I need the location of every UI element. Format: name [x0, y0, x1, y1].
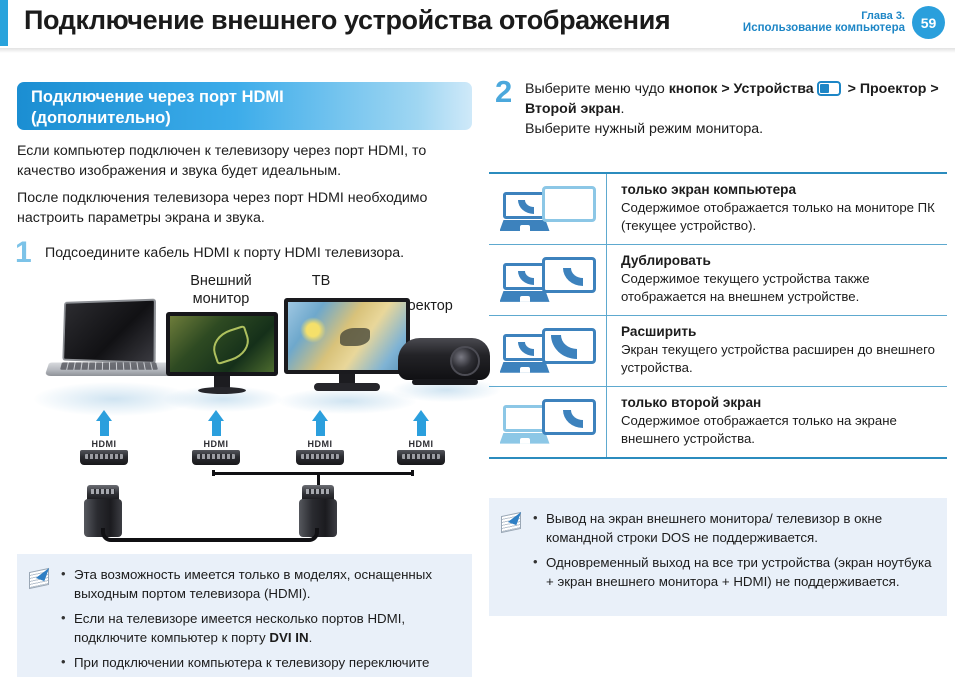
step-1-text: Подсоедините кабель HDMI к порту HDMI те…: [45, 239, 404, 264]
arrow-up-icon-monitor: [208, 410, 225, 436]
note-left-item-1: Эта возможность имеется только в моделях…: [61, 566, 458, 603]
table-row[interactable]: только второй экран Содержимое отображае…: [489, 387, 947, 457]
note-text-after: .: [309, 630, 313, 645]
table-row[interactable]: Расширить Экран текущего устройства расш…: [489, 316, 947, 387]
mode-description: Содержимое отображается только на экране…: [621, 412, 939, 448]
projector-foot: [412, 379, 478, 385]
note-left-item-3: При подключении компьютера к телевизору …: [61, 654, 458, 677]
hdmi-socket-graphic: [397, 450, 445, 465]
monitor-wallpaper: [208, 325, 253, 365]
step-2-seg-2: >: [844, 81, 860, 97]
mode-description: Содержимое отображается только на монито…: [621, 199, 939, 235]
chapter-info: Глава 3. Использование компьютера: [743, 10, 905, 35]
table-row[interactable]: Дублировать Содержимое текущего устройст…: [489, 245, 947, 316]
header-accent-bar: [0, 0, 8, 46]
note-left-list: Эта возможность имеется только в моделях…: [61, 566, 458, 677]
mode-icon-cell: [489, 174, 607, 244]
monitor-glyph: [542, 186, 596, 222]
step-2-seg-1: Выберите меню чудо: [525, 81, 669, 97]
hdmi-socket-graphic: [192, 450, 240, 465]
tv-wallpaper-fish: [340, 328, 370, 346]
laptop-screen: [62, 299, 156, 364]
monitor-glyph: [542, 257, 596, 293]
note-right-item-1: Вывод на экран внешнего монитора/ телеви…: [533, 510, 933, 547]
step-2-text: Выберите меню чудо кнопок > Устройства >…: [525, 78, 950, 140]
note-right-list: Вывод на экран внешнего монитора/ телеви…: [533, 510, 933, 591]
right-column: 2 Выберите меню чудо кнопок > Устройства…: [483, 56, 955, 677]
note-text: Одновременный выход на все три устройств…: [546, 555, 932, 589]
diagram-label-tv: ТВ: [291, 273, 351, 291]
monitor-foot: [198, 387, 246, 394]
hdmi-socket-graphic: [80, 450, 128, 465]
header-chapter-group: Глава 3. Использование компьютера 59: [743, 6, 945, 39]
display-mode-table: только экран компьютера Содержимое отобр…: [489, 172, 947, 459]
section-title-line-1: Подключение через порт HDMI: [31, 87, 472, 108]
mode-description: Содержимое текущего устройства также ото…: [621, 270, 939, 306]
note-text: При подключении компьютера к телевизору …: [74, 655, 429, 677]
note-left-item-2: Если на телевизоре имеется несколько пор…: [61, 610, 458, 647]
mode-title: Расширить: [621, 324, 939, 339]
hdmi-port-label: HDMI: [190, 440, 242, 449]
note-text: Вывод на экран внешнего монитора/ телеви…: [546, 511, 882, 545]
step-1: 1 Подсоедините кабель HDMI к порту HDMI …: [15, 239, 475, 267]
tv-illustration: [284, 298, 410, 398]
devices-icon: [817, 81, 841, 96]
step-2-number: 2: [495, 78, 525, 107]
note-box-right: Вывод на экран внешнего монитора/ телеви…: [489, 498, 947, 616]
mode-text-cell: только экран компьютера Содержимое отобр…: [607, 174, 947, 244]
step-2-seg-3: .: [621, 101, 625, 117]
section-title-line-2: (дополнительно): [31, 108, 472, 129]
note-right-item-2: Одновременный выход на все три устройств…: [533, 554, 933, 591]
page-number-badge: 59: [912, 6, 945, 39]
note-pen-icon: [501, 510, 527, 534]
display-mode-pc-screen-only-icon: [500, 186, 596, 232]
mode-text-cell: только второй экран Содержимое отображае…: [607, 387, 947, 457]
left-column: Подключение через порт HDMI (дополнитель…: [0, 56, 480, 677]
hdmi-port-laptop: HDMI: [78, 440, 130, 470]
mode-text-cell: Дублировать Содержимое текущего устройст…: [607, 245, 947, 315]
display-mode-duplicate-icon: [500, 257, 596, 303]
mode-title: Дублировать: [621, 253, 939, 268]
monitor-glyph: [542, 328, 596, 364]
hdmi-port-monitor: HDMI: [190, 440, 242, 470]
note-pen-icon: [29, 566, 55, 590]
mode-icon-cell: [489, 387, 607, 457]
note-text: Если на телевизоре имеется несколько пор…: [74, 611, 405, 645]
mode-title: только экран компьютера: [621, 182, 939, 197]
cable-bus-left-tick: [212, 470, 215, 476]
table-row[interactable]: только экран компьютера Содержимое отобр…: [489, 174, 947, 245]
display-mode-second-screen-only-icon: [500, 399, 596, 445]
hdmi-socket-graphic: [296, 450, 344, 465]
tv-foot: [314, 383, 380, 391]
arrow-up-icon-laptop: [96, 410, 113, 436]
mode-icon-cell: [489, 316, 607, 386]
hdmi-port-projector: HDMI: [395, 440, 447, 470]
laptop-keyboard: [60, 362, 158, 369]
chapter-number: Глава 3.: [743, 10, 905, 22]
mode-text-cell: Расширить Экран текущего устройства расш…: [607, 316, 947, 386]
mode-title: только второй экран: [621, 395, 939, 410]
header-divider: [0, 48, 955, 53]
monitor-glyph: [542, 399, 596, 435]
mode-icon-cell: [489, 245, 607, 315]
page-header: Подключение внешнего устройства отображе…: [0, 0, 955, 52]
step-2: 2 Выберите меню чудо кнопок > Устройства…: [495, 78, 955, 140]
note-text: Эта возможность имеется только в моделях…: [74, 567, 432, 601]
hdmi-port-label: HDMI: [78, 440, 130, 449]
mode-description: Экран текущего устройства расширен до вн…: [621, 341, 939, 377]
cable-bus-right-tick: [411, 470, 414, 476]
hdmi-port-label: HDMI: [395, 440, 447, 449]
arrow-up-icon-tv: [312, 410, 329, 436]
projector-lens: [450, 346, 480, 376]
monitor-screen: [166, 312, 278, 376]
page-title: Подключение внешнего устройства отображе…: [24, 5, 670, 36]
step-2-bold-1: кнопок > Устройства: [669, 81, 814, 97]
arrow-up-icon-projector: [413, 410, 430, 436]
tv-wallpaper-flower: [300, 317, 326, 343]
intro-paragraph-1: Если компьютер подключен к телевизору че…: [17, 142, 469, 181]
section-title-bar: Подключение через порт HDMI (дополнитель…: [17, 82, 472, 130]
tv-screen: [284, 298, 410, 374]
display-mode-extend-icon: [500, 328, 596, 374]
hdmi-port-label: HDMI: [294, 440, 346, 449]
step-1-number: 1: [15, 239, 45, 267]
manual-page: Подключение внешнего устройства отображе…: [0, 0, 955, 677]
diagram-label-external-monitor: Внешний монитор: [166, 273, 276, 308]
hdmi-port-tv: HDMI: [294, 440, 346, 470]
step-2-line-3: Выберите нужный режим монитора.: [525, 120, 950, 140]
note-bold: DVI IN: [269, 630, 308, 645]
external-monitor-illustration: [166, 312, 278, 398]
projector-illustration: [398, 332, 494, 394]
laptop-illustration: [41, 300, 176, 395]
hdmi-connection-diagram: Внешний монитор ТВ Проектор: [6, 270, 478, 545]
intro-paragraph-2: После подключения телевизора через порт …: [17, 189, 469, 228]
cable-bus-horizontal: [212, 472, 414, 475]
note-box-left: Эта возможность имеется только в моделях…: [17, 554, 472, 677]
hdmi-cable-loop: [101, 528, 319, 542]
chapter-name: Использование компьютера: [743, 22, 905, 35]
